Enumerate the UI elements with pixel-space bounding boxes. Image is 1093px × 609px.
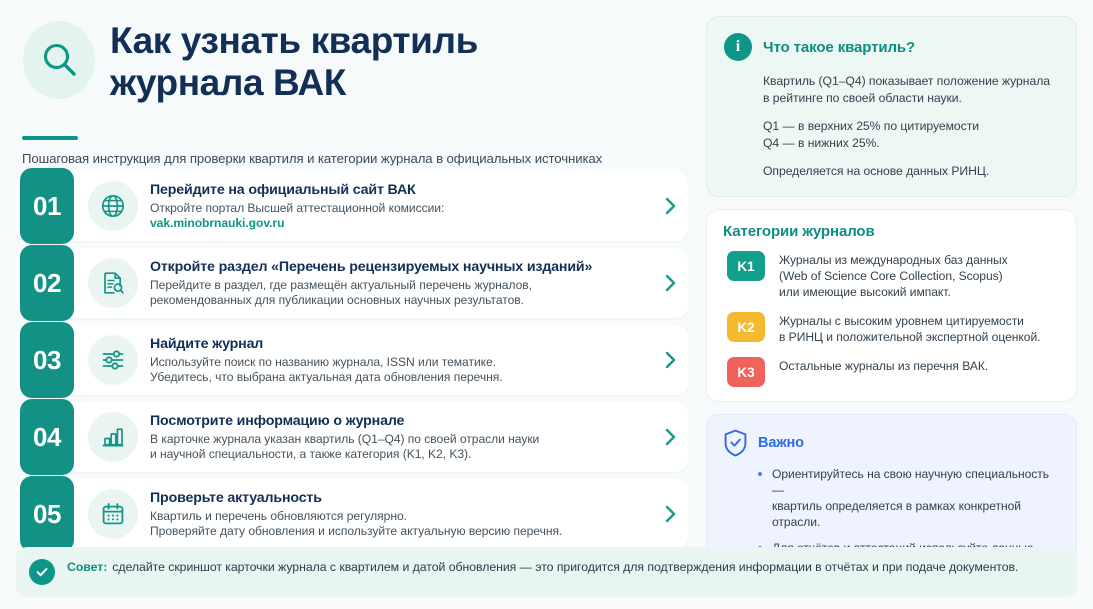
step-icon-wrap bbox=[88, 335, 138, 385]
category-description: Остальные журналы из перечня ВАК. bbox=[779, 357, 988, 374]
step-description-line-1: Откройте портал Высшей аттестационной ко… bbox=[150, 201, 644, 216]
panel-body: Квартиль (Q1–Q4) показывает положение жу… bbox=[724, 73, 1058, 180]
step-chevron-button[interactable] bbox=[652, 426, 688, 448]
step-card-03[interactable]: 03 Найдите журнал Используйте поиск по н… bbox=[16, 325, 688, 395]
sliders-icon bbox=[100, 347, 126, 373]
calendar-icon bbox=[100, 501, 126, 527]
infographic-page: Как узнать квартиль журнала ВАК Пошагова… bbox=[0, 0, 1093, 609]
step-title: Перейдите на официальный сайт ВАК bbox=[150, 182, 644, 199]
step-number-badge: 03 bbox=[20, 322, 74, 398]
step-description-line-1: Используйте поиск по названию журнала, I… bbox=[150, 355, 644, 370]
step-description-line-1: В карточке журнала указан квартиль (Q1–Q… bbox=[150, 432, 644, 447]
category-description: Журналы с высоким уровнем цитируемости в… bbox=[779, 312, 1040, 345]
panel-header: Важно bbox=[723, 429, 1060, 457]
document-search-icon bbox=[100, 270, 126, 296]
panel-title: Категории журналов bbox=[723, 223, 1060, 240]
panel-header: i Что такое квартиль? bbox=[724, 33, 1058, 61]
category-row: K1 Журналы из международных баз данных (… bbox=[723, 251, 1060, 300]
info-paragraph-1: Квартиль (Q1–Q4) показывает положение жу… bbox=[763, 73, 1058, 107]
header-titles: Как узнать квартиль журнала ВАК bbox=[110, 18, 478, 104]
step-card-02[interactable]: 02 Откройте раздел «Перечень рецензир bbox=[16, 248, 688, 318]
step-chevron-button[interactable] bbox=[652, 349, 688, 371]
step-title: Откройте раздел «Перечень рецензируемых … bbox=[150, 259, 644, 276]
page-title: Как узнать квартиль журнала ВАК bbox=[110, 20, 478, 104]
category-description: Журналы из международных баз данных (Web… bbox=[779, 251, 1008, 300]
globe-icon bbox=[100, 193, 126, 219]
step-description-line-2: и научной специальности, а также категор… bbox=[150, 447, 644, 462]
tip-body: сделайте скриншот карточки журнала с ква… bbox=[112, 560, 1018, 574]
chevron-right-icon bbox=[663, 426, 678, 448]
category-badge-k2: K2 bbox=[727, 312, 765, 342]
shield-check-icon bbox=[723, 429, 748, 457]
category-row: K3 Остальные журналы из перечня ВАК. bbox=[723, 357, 1060, 387]
category-badge-k1: K1 bbox=[727, 251, 765, 281]
what-is-quartile-panel: i Что такое квартиль? Квартиль (Q1–Q4) п… bbox=[706, 16, 1077, 197]
step-body: Посмотрите информацию о журнале В карточ… bbox=[150, 413, 652, 462]
accent-rule bbox=[22, 136, 78, 140]
step-title: Найдите журнал bbox=[150, 336, 644, 353]
chevron-right-icon bbox=[663, 195, 678, 217]
step-chevron-button[interactable] bbox=[652, 195, 688, 217]
step-icon-wrap bbox=[88, 412, 138, 462]
step-body: Проверьте актуальность Квартиль и перече… bbox=[150, 490, 652, 539]
step-number-badge: 04 bbox=[20, 399, 74, 475]
info-icon: i bbox=[724, 33, 752, 61]
step-title: Проверьте актуальность bbox=[150, 490, 644, 507]
tip-label: Совет: bbox=[67, 560, 107, 574]
category-badge-k3: K3 bbox=[727, 357, 765, 387]
important-list-item: Ориентируйтесь на свою научную специальн… bbox=[758, 466, 1060, 530]
bar-chart-icon bbox=[100, 424, 126, 450]
step-number-badge: 01 bbox=[20, 168, 74, 244]
page-header: Как узнать квартиль журнала ВАК bbox=[16, 14, 688, 126]
step-number-badge: 05 bbox=[20, 476, 74, 552]
check-circle-icon bbox=[29, 559, 55, 585]
step-body: Перейдите на официальный сайт ВАК Открой… bbox=[150, 182, 652, 231]
step-chevron-button[interactable] bbox=[652, 503, 688, 525]
panel-title: Что такое квартиль? bbox=[763, 39, 915, 56]
step-title: Посмотрите информацию о журнале bbox=[150, 413, 644, 430]
step-number-badge: 02 bbox=[20, 245, 74, 321]
page-subtitle: Пошаговая инструкция для проверки кварти… bbox=[22, 151, 688, 167]
info-paragraph-2: Q1 — в верхних 25% по цитируемости Q4 — … bbox=[763, 118, 1058, 152]
chevron-right-icon bbox=[663, 349, 678, 371]
step-card-01[interactable]: 01 Перейдите на официальный сайт ВАК Отк… bbox=[16, 171, 688, 241]
check-icon bbox=[35, 565, 49, 579]
chevron-right-icon bbox=[663, 272, 678, 294]
step-description-line-1: Квартиль и перечень обновляются регулярн… bbox=[150, 509, 644, 524]
step-body: Найдите журнал Используйте поиск по назв… bbox=[150, 336, 652, 385]
journal-categories-panel: Категории журналов K1 Журналы из междуна… bbox=[706, 209, 1077, 402]
step-body: Откройте раздел «Перечень рецензируемых … bbox=[150, 259, 652, 308]
step-description-line-2: рекомендованных для публикации основных … bbox=[150, 293, 644, 308]
magnifier-icon bbox=[40, 40, 80, 80]
step-chevron-button[interactable] bbox=[652, 272, 688, 294]
tip-bar: Совет:сделайте скриншот карточки журнала… bbox=[16, 547, 1077, 597]
step-icon-wrap bbox=[88, 258, 138, 308]
step-icon-wrap bbox=[88, 181, 138, 231]
info-paragraph-3: Определяется на основе данных РИНЦ. bbox=[763, 163, 1058, 180]
category-row: K2 Журналы с высоким уровнем цитируемост… bbox=[723, 312, 1060, 345]
step-card-05[interactable]: 05 Проверьт bbox=[16, 479, 688, 549]
step-link-url[interactable]: vak.minobrnauki.gov.ru bbox=[150, 216, 644, 231]
chevron-right-icon bbox=[663, 503, 678, 525]
header-badge bbox=[20, 18, 98, 106]
step-icon-wrap bbox=[88, 489, 138, 539]
step-description-line-2: Убедитесь, что выбрана актуальная дата о… bbox=[150, 370, 644, 385]
step-description-line-2: Проверяйте дату обновления и используйте… bbox=[150, 524, 644, 539]
step-description-line-1: Перейдите в раздел, где размещён актуаль… bbox=[150, 278, 644, 293]
right-column: i Что такое квартиль? Квартиль (Q1–Q4) п… bbox=[706, 14, 1077, 599]
step-card-04[interactable]: 04 Посмотрите информацию о журнале В кар… bbox=[16, 402, 688, 472]
steps-list: 01 Перейдите на официальный сайт ВАК Отк… bbox=[16, 171, 688, 549]
panel-title: Важно bbox=[758, 435, 804, 451]
tip-text: Совет:сделайте скриншот карточки журнала… bbox=[67, 558, 1018, 576]
left-column: Как узнать квартиль журнала ВАК Пошагова… bbox=[16, 14, 688, 599]
